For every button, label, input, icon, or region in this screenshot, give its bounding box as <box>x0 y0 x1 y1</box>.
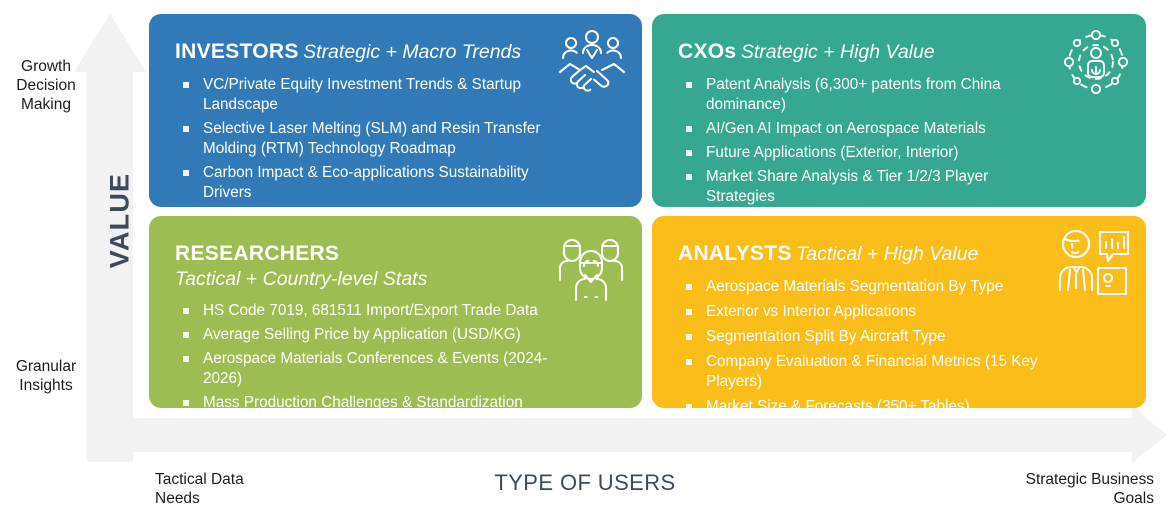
list-item: Market Share Analysis & Tier 1/2/3 Playe… <box>684 167 1052 207</box>
list-item: HS Code 7019, 681511 Import/Export Trade… <box>181 301 548 321</box>
granular-insights-caption: Granular Insights <box>8 357 84 395</box>
value-axis-label: VALUE <box>105 161 136 281</box>
card-bullet-list-cxos: Patent Analysis (6,300+ patents from Chi… <box>678 75 1122 207</box>
list-item: Aerospace Materials Conferences & Events… <box>181 349 548 389</box>
card-subtitle-investors: Strategic + Macro Trends <box>303 41 521 63</box>
list-item: Future Applications (Exterior, Interior) <box>684 143 1052 163</box>
list-item: Aerospace Materials Segmentation By Type <box>684 277 1052 297</box>
list-item: Segmentation Split By Aircraft Type <box>684 327 1052 347</box>
handshake-group-icon <box>556 28 628 96</box>
card-heading-investors: INVESTORS Strategic + Macro Trends <box>175 40 618 65</box>
card-title-analysts: ANALYSTS <box>678 242 792 265</box>
quadrant-card-cxos[interactable]: CXOs Strategic + High Value Patent Analy… <box>652 14 1146 207</box>
list-item: VC/Private Equity Investment Trends & St… <box>181 75 548 115</box>
list-item: AI/Gen AI Impact on Aerospace Materials <box>684 119 1052 139</box>
card-subtitle-cxos: Strategic + High Value <box>741 41 935 63</box>
card-title-cxos: CXOs <box>678 40 736 63</box>
card-title-researchers: RESEARCHERS <box>175 242 339 265</box>
list-item: Market Size & Forecasts (350+ Tables) <box>684 397 1052 408</box>
card-subtitle-researchers: Tactical + Country-level Stats <box>175 268 518 291</box>
quadrant-card-researchers[interactable]: RESEARCHERS Tactical + Country-level Sta… <box>149 216 642 408</box>
list-item: Company Evaluation & Financial Metrics (… <box>684 352 1052 392</box>
list-item: Carbon Impact & Eco-applications Sustain… <box>181 163 548 203</box>
quadrant-card-investors[interactable]: INVESTORS Strategic + Macro Trends VC/Pr… <box>149 14 642 207</box>
list-item: Average Selling Price by Application (US… <box>181 325 548 345</box>
card-bullet-list-investors: VC/Private Equity Investment Trends & St… <box>175 75 618 207</box>
type-of-users-axis-label: TYPE OF USERS <box>0 470 1170 496</box>
type-of-users-axis-arrow <box>87 406 1167 463</box>
analyst-chart-icon <box>1056 228 1132 300</box>
network-person-icon <box>1060 28 1132 96</box>
list-item: Mass Production Challenges & Standardiza… <box>181 393 548 408</box>
card-bullet-list-researchers: HS Code 7019, 681511 Import/Export Trade… <box>175 301 618 408</box>
list-item: Patent Analysis (6,300+ patents from Chi… <box>684 75 1052 115</box>
quadrant-matrix-diagram: VALUE Growth Decision Making Granular In… <box>0 0 1170 520</box>
growth-decision-making-caption: Growth Decision Making <box>10 57 82 114</box>
quadrant-card-analysts[interactable]: ANALYSTS Tactical + High Value Aerospace… <box>652 216 1146 408</box>
list-item: Exterior vs Interior Applications <box>684 302 1052 322</box>
card-heading-cxos: CXOs Strategic + High Value <box>678 40 1122 65</box>
card-title-investors: INVESTORS <box>175 40 299 63</box>
three-people-icon <box>552 232 630 304</box>
list-item: Selective Laser Melting (SLM) and Resin … <box>181 119 548 159</box>
card-subtitle-analysts: Tactical + High Value <box>796 243 978 265</box>
